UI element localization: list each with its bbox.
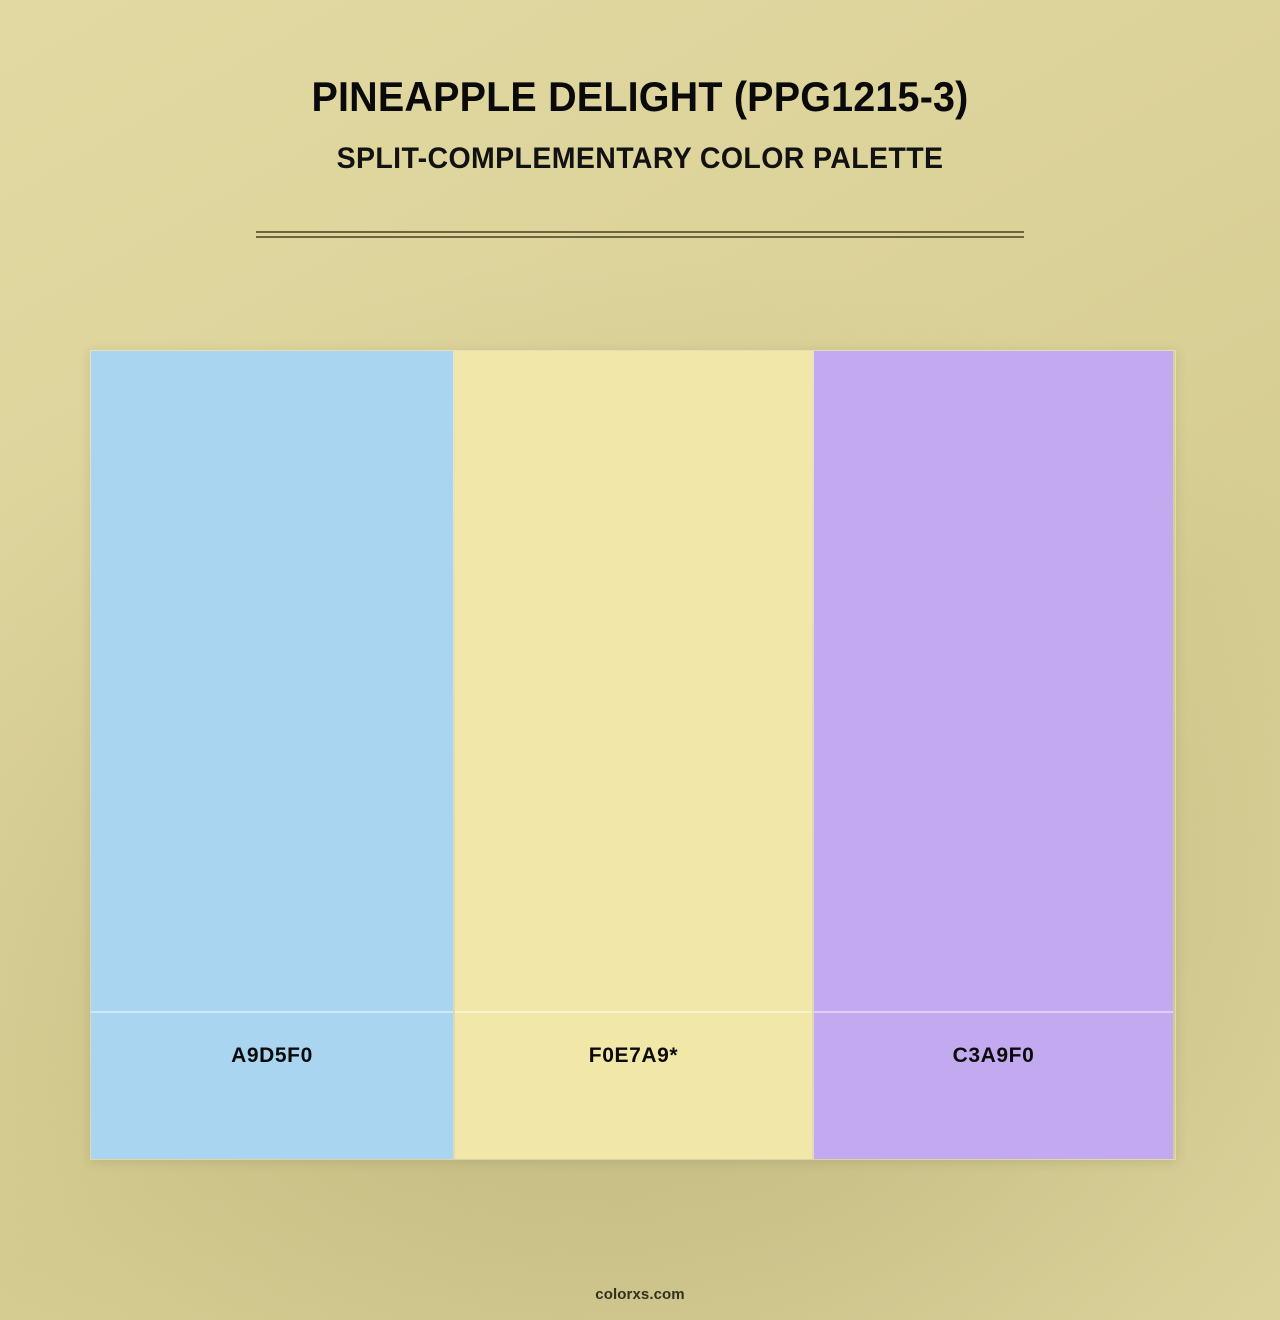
color-chip-1[interactable]: A9D5F0 — [91, 1011, 453, 1159]
palette-card: A9D5F0 F0E7A9* C3A9F0 — [90, 350, 1176, 1160]
palette-page: PINEAPPLE DELIGHT (PPG1215-3) SPLIT-COMP… — [0, 0, 1280, 1320]
site-footer: colorxs.com — [0, 1286, 1280, 1303]
header: PINEAPPLE DELIGHT (PPG1215-3) SPLIT-COMP… — [0, 0, 1280, 176]
palette-column-2[interactable]: F0E7A9* — [453, 351, 814, 1159]
color-chip-3[interactable]: C3A9F0 — [814, 1011, 1173, 1159]
page-subtitle: SPLIT-COMPLEMENTARY COLOR PALETTE — [32, 120, 1248, 176]
palette-column-1[interactable]: A9D5F0 — [91, 351, 453, 1159]
color-swatch-3[interactable] — [814, 351, 1173, 1011]
color-hex-label-1: A9D5F0 — [231, 1044, 313, 1068]
divider-line-bottom — [256, 236, 1024, 238]
color-hex-label-2: F0E7A9* — [589, 1044, 678, 1068]
title-divider — [256, 231, 1024, 238]
palette-column-3[interactable]: C3A9F0 — [814, 351, 1173, 1159]
color-hex-label-3: C3A9F0 — [953, 1044, 1035, 1068]
page-title: PINEAPPLE DELIGHT (PPG1215-3) — [38, 0, 1241, 120]
color-chip-2[interactable]: F0E7A9* — [455, 1011, 812, 1159]
divider-line-top — [256, 231, 1024, 233]
color-swatch-1[interactable] — [91, 351, 453, 1011]
color-swatch-2[interactable] — [455, 351, 812, 1011]
